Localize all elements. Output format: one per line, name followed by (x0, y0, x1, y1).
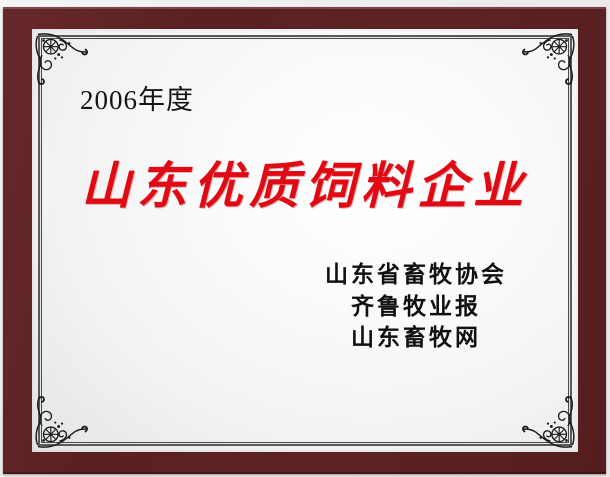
issuer-line: 齐鲁牧业报 (286, 291, 546, 323)
certificate-title: 山东优质饲料企业 (32, 159, 578, 213)
frame-bevel-top (3, 7, 606, 9)
issuer-line: 山东省畜牧协会 (286, 259, 546, 291)
corner-flourish-icon (34, 31, 90, 87)
certificate-panel: 2006年度 山东优质饲料企业 山东省畜牧协会 齐鲁牧业报 山东畜牧网 (32, 29, 578, 452)
certificate-year: 2006年度 (80, 87, 194, 114)
corner-flourish-icon (520, 394, 576, 450)
corner-flourish-icon (34, 394, 90, 450)
issuer-block: 山东省畜牧协会 齐鲁牧业报 山东畜牧网 (286, 259, 546, 354)
issuer-line: 山东畜牧网 (286, 322, 546, 354)
frame-bevel-bottom (3, 472, 606, 474)
plaque-frame: 2006年度 山东优质饲料企业 山东省畜牧协会 齐鲁牧业报 山东畜牧网 (3, 7, 606, 474)
corner-flourish-icon (520, 31, 576, 87)
award-plaque: 2006年度 山东优质饲料企业 山东省畜牧协会 齐鲁牧业报 山东畜牧网 (0, 0, 610, 477)
